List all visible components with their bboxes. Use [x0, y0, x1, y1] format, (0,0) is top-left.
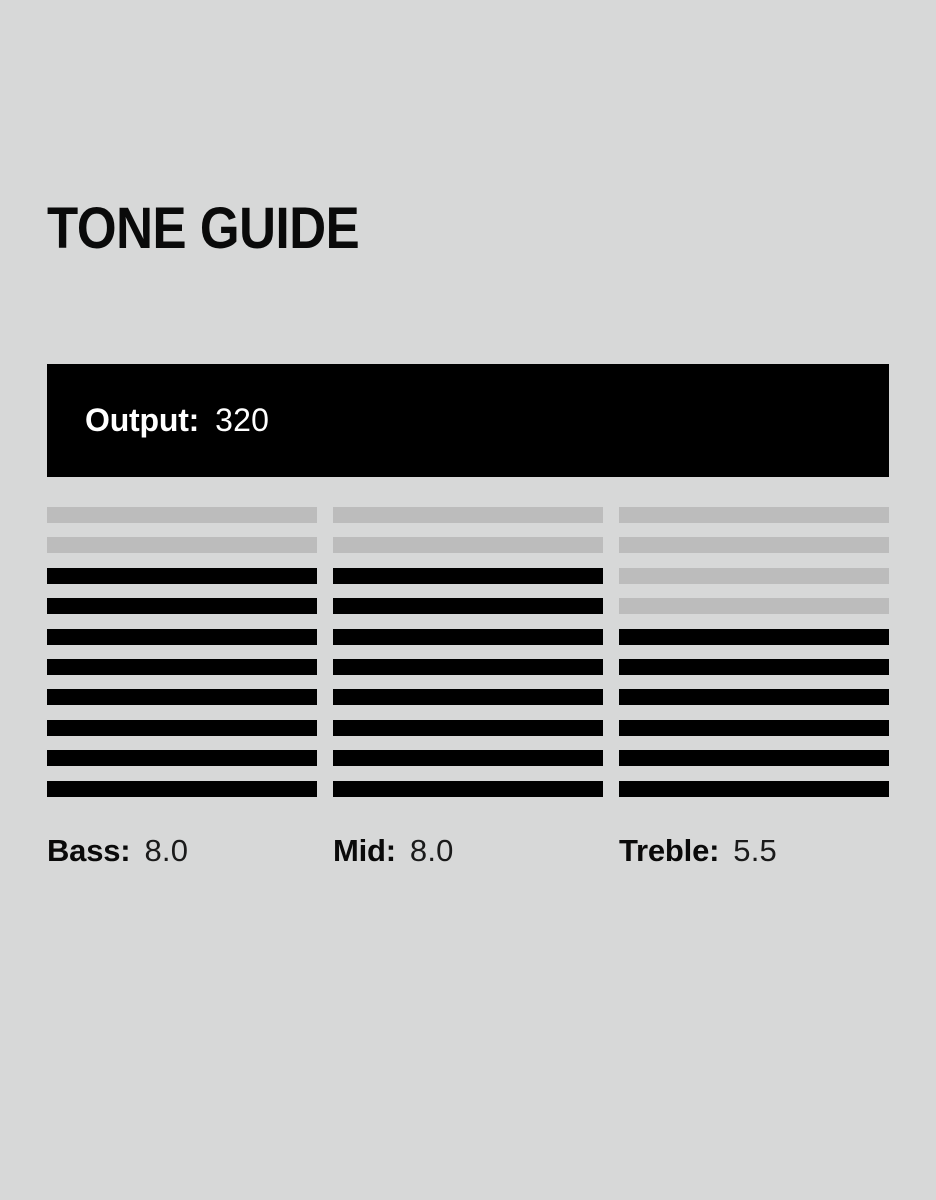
meter-segment-filled: [47, 598, 317, 614]
meter-segment-filled: [619, 629, 889, 645]
band-name-bass: Bass:: [47, 833, 130, 869]
output-banner: Output: 320: [47, 364, 889, 477]
meter-segment-empty: [619, 598, 889, 614]
segment-stack-mid: [333, 507, 603, 797]
meter-segment-empty: [333, 507, 603, 523]
meter-segment-filled: [47, 689, 317, 705]
meter-segment-empty: [619, 507, 889, 523]
band-value-mid: 8.0: [410, 833, 454, 869]
meter-column-bass: [47, 507, 317, 797]
meter-segment-filled: [333, 689, 603, 705]
page-title: TONE GUIDE: [47, 200, 359, 258]
label-mid: Mid: 8.0: [333, 833, 603, 869]
meter-segment-filled: [619, 720, 889, 736]
meter-segment-filled: [47, 781, 317, 797]
segment-stack-bass: [47, 507, 317, 797]
band-name-treble: Treble:: [619, 833, 719, 869]
tone-guide-card: TONE GUIDE Output: 320 Bass: 8.0 Mid: 8.…: [47, 0, 889, 1200]
meter-segment-filled: [333, 659, 603, 675]
label-bass: Bass: 8.0: [47, 833, 317, 869]
output-value: 320: [215, 402, 269, 439]
meter-segment-filled: [333, 750, 603, 766]
band-value-treble: 5.5: [733, 833, 777, 869]
output-label: Output:: [85, 402, 199, 439]
meter-segment-filled: [47, 568, 317, 584]
meter-segment-filled: [333, 598, 603, 614]
tone-labels: Bass: 8.0 Mid: 8.0 Treble: 5.5: [47, 833, 889, 869]
label-treble: Treble: 5.5: [619, 833, 889, 869]
band-value-bass: 8.0: [144, 833, 188, 869]
meter-segment-filled: [619, 781, 889, 797]
meter-segment-filled: [333, 720, 603, 736]
output-banner-content: Output: 320: [85, 364, 269, 477]
meter-segment-filled: [333, 629, 603, 645]
meter-segment-empty: [619, 568, 889, 584]
meter-segment-filled: [619, 689, 889, 705]
band-name-mid: Mid:: [333, 833, 396, 869]
meter-segment-filled: [333, 568, 603, 584]
meter-segment-empty: [619, 537, 889, 553]
segment-stack-treble: [619, 507, 889, 797]
meter-segment-empty: [47, 507, 317, 523]
meter-segment-empty: [47, 537, 317, 553]
meter-segment-empty: [333, 537, 603, 553]
meter-segment-filled: [619, 750, 889, 766]
meter-segment-filled: [333, 781, 603, 797]
tone-meters: [47, 507, 889, 797]
meter-segment-filled: [47, 720, 317, 736]
meter-segment-filled: [47, 659, 317, 675]
meter-segment-filled: [619, 659, 889, 675]
meter-column-mid: [333, 507, 603, 797]
meter-column-treble: [619, 507, 889, 797]
meter-segment-filled: [47, 750, 317, 766]
meter-segment-filled: [47, 629, 317, 645]
